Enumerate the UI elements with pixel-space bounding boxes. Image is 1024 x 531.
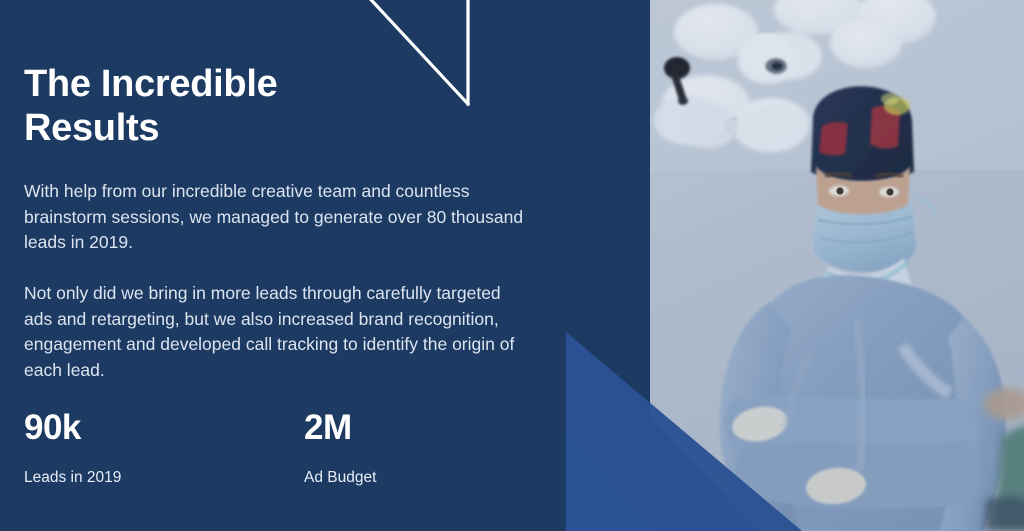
- stat-ad-budget-label: Ad Budget: [304, 469, 376, 487]
- stat-ad-budget-value: 2M: [304, 408, 376, 448]
- slide-text-content: The Incredible Results With help from ou…: [24, 0, 544, 531]
- stat-leads-value: 90k: [24, 408, 121, 448]
- stat-ad-budget: 2M Ad Budget: [304, 408, 376, 487]
- body-paragraph-1: With help from our incredible creative t…: [24, 179, 524, 256]
- surgeon-in-operating-room-photo: [650, 0, 1024, 531]
- page-title-line-2: Results: [24, 107, 159, 149]
- stat-leads-label: Leads in 2019: [24, 469, 121, 487]
- stat-leads: 90k Leads in 2019: [24, 408, 121, 487]
- body-paragraph-2: Not only did we bring in more leads thro…: [24, 281, 524, 383]
- slide-canvas: The Incredible Results With help from ou…: [0, 0, 1024, 531]
- stats-row: 90k Leads in 2019 2M Ad Budget: [24, 408, 544, 508]
- page-title: The Incredible Results: [24, 62, 424, 150]
- page-title-line-1: The Incredible: [24, 63, 277, 105]
